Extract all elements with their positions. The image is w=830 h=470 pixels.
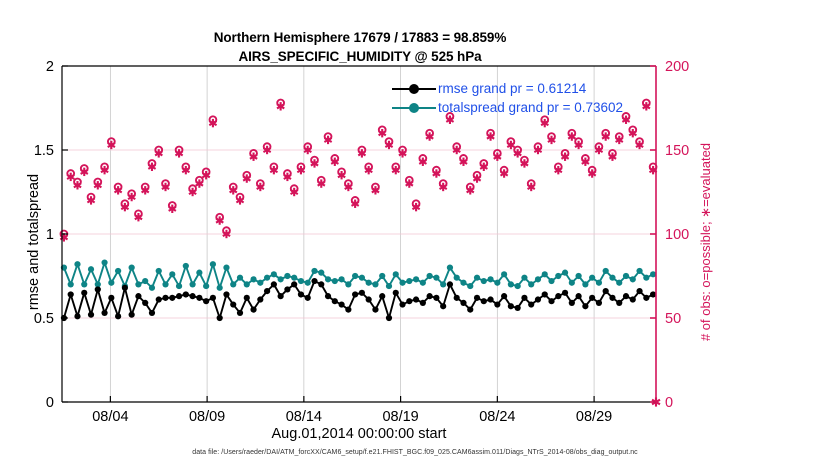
series-point-rmse (190, 293, 196, 299)
series-point-totalspread (636, 268, 642, 274)
series-point-totalspread (393, 271, 399, 277)
series-point-totalspread (521, 275, 527, 281)
series-point-rmse (318, 281, 324, 287)
series-point-totalspread (271, 271, 277, 277)
series-point-totalspread (474, 275, 480, 281)
series-point-rmse (291, 281, 297, 287)
legend: rmse grand pr = 0.61214 totalspread gran… (392, 79, 654, 117)
tick-label-bottom: 08/09 (189, 409, 225, 425)
legend-item-rmse[interactable]: rmse grand pr = 0.61214 (392, 79, 654, 98)
series-point-rmse (176, 293, 182, 299)
series-point-rmse (393, 290, 399, 296)
series-point-totalspread (447, 265, 453, 271)
series-point-totalspread (101, 259, 107, 265)
series-point-totalspread (156, 268, 162, 274)
series-point-totalspread (596, 280, 602, 286)
series-point-totalspread (481, 278, 487, 284)
series-point-rmse (515, 305, 521, 311)
series-point-totalspread (542, 271, 548, 277)
series-point-rmse (298, 291, 304, 297)
series-point-rmse (386, 315, 392, 321)
series-point-rmse (129, 312, 135, 318)
series-point-rmse (433, 295, 439, 301)
series-point-rmse (325, 293, 331, 299)
tick-label-right: 150 (665, 143, 689, 159)
series-point-rmse (406, 298, 412, 304)
series-point-totalspread (562, 270, 568, 276)
series-point-rmse (379, 293, 385, 299)
series-point-totalspread (162, 281, 168, 287)
series-point-rmse (149, 310, 155, 316)
series-point-totalspread (257, 280, 263, 286)
series-point-totalspread (223, 265, 229, 271)
series-point-totalspread (115, 268, 121, 274)
series-point-totalspread (135, 281, 141, 287)
series-point-rmse (481, 298, 487, 304)
series-point-totalspread (576, 273, 582, 279)
series-point-rmse (454, 295, 460, 301)
series-point-totalspread (399, 280, 405, 286)
series-point-totalspread (366, 280, 372, 286)
series-point-totalspread (183, 263, 189, 269)
series-point-totalspread (548, 278, 554, 284)
y-axis-left-label: rmse and totalspread (26, 112, 42, 372)
series-point-rmse (576, 293, 582, 299)
tick-label-left: 1 (46, 227, 54, 243)
series-point-rmse (616, 300, 622, 306)
series-point-totalspread (196, 270, 202, 276)
series-point-rmse (81, 290, 87, 296)
x-axis-label: Aug.01,2014 00:00:00 start (62, 426, 656, 442)
series-point-rmse (569, 300, 575, 306)
series-point-totalspread (359, 275, 365, 281)
series-point-totalspread (569, 280, 575, 286)
series-point-totalspread (264, 275, 270, 281)
series-point-totalspread (345, 281, 351, 287)
series-point-totalspread (413, 276, 419, 282)
series-point-totalspread (467, 283, 473, 289)
series-point-rmse (237, 310, 243, 316)
y-axis-right-label: # of obs: o=possible; ∗=evaluated (698, 112, 714, 372)
series-point-totalspread (68, 281, 74, 287)
series-point-rmse (609, 295, 615, 301)
series-point-rmse (366, 296, 372, 302)
series-point-totalspread (460, 280, 466, 286)
series-point-totalspread (305, 280, 311, 286)
tick-label-bottom: 08/29 (576, 409, 612, 425)
series-point-rmse (413, 296, 419, 302)
tick-label-bottom: 08/04 (92, 409, 128, 425)
series-point-rmse (359, 290, 365, 296)
series-point-totalspread (427, 273, 433, 279)
series-point-rmse (88, 312, 94, 318)
series-point-totalspread (176, 283, 182, 289)
series-point-rmse (345, 307, 351, 313)
series-point-totalspread (108, 280, 114, 286)
series-point-totalspread (129, 265, 135, 271)
series-point-rmse (244, 295, 250, 301)
series-point-totalspread (494, 280, 500, 286)
series-point-rmse (162, 295, 168, 301)
series-point-rmse (230, 301, 236, 307)
series-point-rmse (460, 300, 466, 306)
series-point-totalspread (643, 275, 649, 281)
tick-label-right: 100 (665, 227, 689, 243)
series-point-rmse (101, 310, 107, 316)
series-point-rmse (278, 293, 284, 299)
series-point-rmse (603, 288, 609, 294)
series-point-totalspread (440, 281, 446, 287)
series-point-rmse (535, 296, 541, 302)
series-point-rmse (305, 295, 311, 301)
series-point-totalspread (528, 281, 534, 287)
series-point-totalspread (149, 285, 155, 291)
series-point-totalspread (487, 276, 493, 282)
series-point-totalspread (535, 276, 541, 282)
series-point-totalspread (501, 271, 507, 277)
series-point-rmse (115, 313, 121, 319)
series-point-totalspread (332, 278, 338, 284)
series-point-rmse (508, 303, 514, 309)
series-point-totalspread (515, 283, 521, 289)
series-point-totalspread (250, 276, 256, 282)
series-point-rmse (203, 298, 209, 304)
series-point-rmse (338, 301, 344, 307)
tick-label-right: 50 (665, 311, 681, 327)
series-point-totalspread (508, 281, 514, 287)
series-point-rmse (156, 296, 162, 302)
series-point-rmse (623, 293, 629, 299)
series-point-totalspread (190, 281, 196, 287)
series-point-totalspread (237, 275, 243, 281)
series-point-totalspread (454, 275, 460, 281)
series-point-rmse (122, 285, 128, 291)
series-point-rmse (95, 286, 101, 292)
series-point-rmse (501, 293, 507, 299)
series-point-totalspread (298, 278, 304, 284)
series-point-rmse (447, 281, 453, 287)
series-point-rmse (528, 301, 534, 307)
series-point-rmse (548, 298, 554, 304)
series-point-totalspread (379, 273, 385, 279)
series-point-rmse (467, 307, 473, 313)
series-point-totalspread (325, 276, 331, 282)
series-point-rmse (311, 278, 317, 284)
series-point-totalspread (386, 283, 392, 289)
data-file-note: data file: /Users/raeder/DAI/ATM_forcXX/… (0, 449, 830, 456)
series-point-rmse (636, 288, 642, 294)
series-point-totalspread (406, 278, 412, 284)
series-point-totalspread (630, 276, 636, 282)
series-point-rmse (542, 291, 548, 297)
series-point-totalspread (291, 275, 297, 281)
series-point-rmse (142, 300, 148, 306)
series-point-rmse (372, 307, 378, 313)
series-point-totalspread (420, 280, 426, 286)
series-point-rmse (582, 303, 588, 309)
series-point-rmse (643, 295, 649, 301)
tick-label-bottom: 08/19 (382, 409, 418, 425)
series-point-rmse (589, 295, 595, 301)
tick-label-bottom: 08/24 (479, 409, 515, 425)
series-point-rmse (196, 295, 202, 301)
legend-marker-rmse (392, 82, 436, 96)
series-point-totalspread (169, 271, 175, 277)
series-point-rmse (223, 291, 229, 297)
series-point-totalspread (81, 281, 87, 287)
series-point-totalspread (278, 276, 284, 282)
series-point-totalspread (142, 278, 148, 284)
tick-label-right: 200 (665, 59, 689, 75)
series-point-totalspread (284, 273, 290, 279)
series-point-rmse (210, 295, 216, 301)
series-point-rmse (420, 300, 426, 306)
series-point-totalspread (555, 273, 561, 279)
data-series-layer (60, 100, 660, 407)
series-point-rmse (487, 296, 493, 302)
tick-label-right: 0 (665, 395, 673, 411)
series-point-totalspread (88, 266, 94, 272)
series-point-totalspread (217, 285, 223, 291)
series-point-rmse (555, 293, 561, 299)
figure-canvas: Northern Hemisphere 17679 / 17883 = 98.8… (0, 0, 830, 470)
series-point-totalspread (203, 283, 209, 289)
series-point-totalspread (311, 268, 317, 274)
series-point-totalspread (582, 281, 588, 287)
series-point-rmse (271, 281, 277, 287)
series-point-rmse (250, 307, 256, 313)
series-point-totalspread (338, 276, 344, 282)
series-point-rmse (332, 298, 338, 304)
legend-label-rmse: rmse grand pr = 0.61214 (438, 81, 586, 96)
series-point-rmse (135, 293, 141, 299)
series-point-rmse (183, 291, 189, 297)
tick-label-left: 2 (46, 59, 54, 75)
series-point-rmse (169, 295, 175, 301)
series-point-rmse (521, 295, 527, 301)
series-point-rmse (630, 296, 636, 302)
tick-label-left: 0 (46, 395, 54, 411)
series-point-totalspread (433, 275, 439, 281)
series-point-rmse (596, 300, 602, 306)
legend-label-totalspread: totalspread grand pr = 0.73602 (438, 100, 623, 115)
series-point-rmse (217, 315, 223, 321)
series-point-totalspread (609, 275, 615, 281)
series-point-totalspread (623, 273, 629, 279)
series-point-rmse (352, 291, 358, 297)
legend-item-totalspread[interactable]: totalspread grand pr = 0.73602 (392, 98, 654, 117)
series-point-rmse (74, 313, 80, 319)
series-point-rmse (440, 303, 446, 309)
series-point-rmse (257, 296, 263, 302)
series-point-totalspread (616, 280, 622, 286)
series-point-totalspread (244, 281, 250, 287)
legend-marker-totalspread (392, 101, 436, 115)
series-point-rmse (108, 295, 114, 301)
series-point-totalspread (603, 268, 609, 274)
series-point-rmse (494, 301, 500, 307)
series-point-rmse (399, 301, 405, 307)
series-point-rmse (68, 291, 74, 297)
series-point-totalspread (230, 281, 236, 287)
tick-label-bottom: 08/14 (286, 409, 322, 425)
series-point-rmse (562, 290, 568, 296)
series-point-rmse (264, 288, 270, 294)
series-point-rmse (284, 286, 290, 292)
series-point-totalspread (589, 275, 595, 281)
series-point-totalspread (74, 261, 80, 267)
series-point-totalspread (318, 270, 324, 276)
series-point-totalspread (352, 273, 358, 279)
series-point-rmse (474, 295, 480, 301)
series-point-totalspread (210, 261, 216, 267)
series-point-rmse (427, 293, 433, 299)
series-point-totalspread (372, 281, 378, 287)
